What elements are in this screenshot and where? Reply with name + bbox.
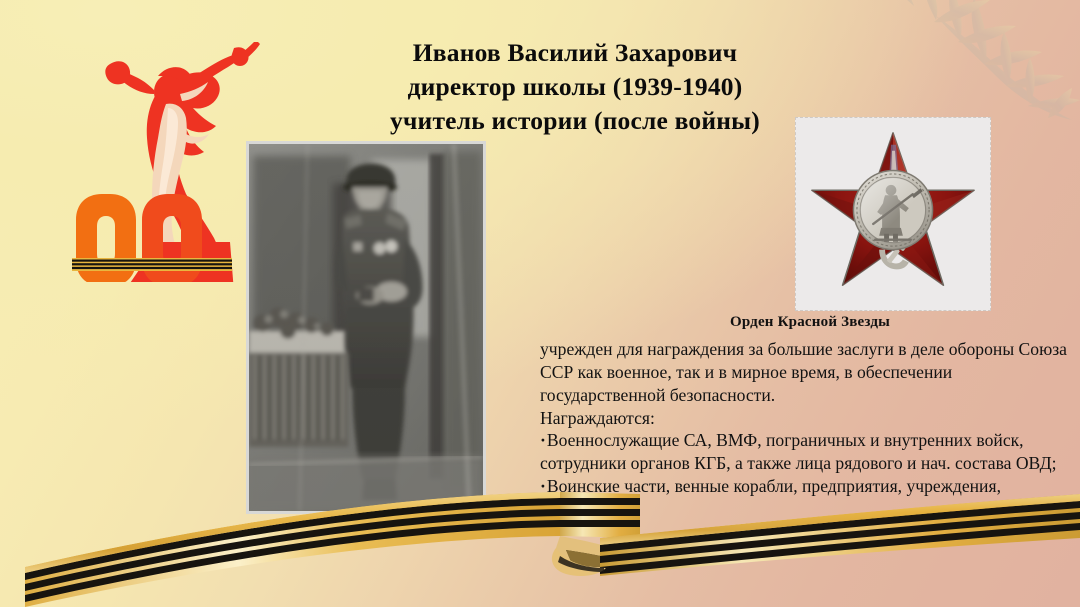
medal-paragraph-1: учрежден для награждения за большие засл… [540, 338, 1068, 407]
archival-photo [246, 141, 486, 514]
st-george-ribbon-bar-icon [72, 258, 232, 271]
archival-photo-image [249, 144, 483, 511]
anniversary-80-logo [62, 42, 262, 282]
order-of-the-red-star-image [795, 117, 991, 311]
medal-description: учрежден для награждения за большие засл… [540, 338, 1068, 521]
medal-bullet-2: Воинские части, венные корабли, предприя… [540, 475, 1068, 521]
title-line-3: учитель истории (после войны) [330, 104, 820, 138]
title-line-2: директор школы (1939-1940) [330, 70, 820, 104]
slide-title: Иванов Василий Захарович директор школы … [330, 36, 820, 138]
laurel-branch-icon [836, 0, 1080, 127]
title-line-1: Иванов Василий Захарович [330, 36, 820, 70]
medal-heading: Орден Красной Звезды [600, 314, 1020, 331]
slide-canvas: Иванов Василий Захарович директор школы … [0, 0, 1080, 607]
medal-paragraph-2: Награждаются: [540, 407, 1068, 430]
soldier-medallion [853, 170, 932, 249]
medal-bullet-1: Военнослужащие СА, ВМФ, пограничных и вн… [540, 429, 1068, 475]
